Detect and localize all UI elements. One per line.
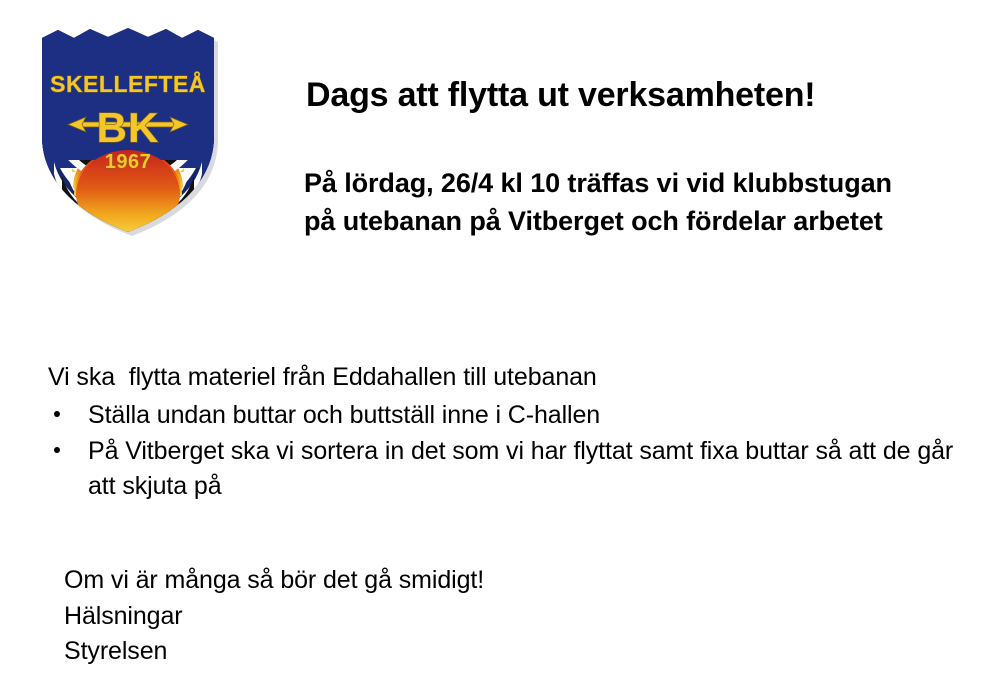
crest-initials: BK (97, 104, 160, 151)
body-block: Vi ska flytta materiel från Eddahallen t… (48, 360, 968, 505)
subheading: På lördag, 26/4 kl 10 träffas vi vid klu… (304, 164, 892, 241)
bullet-icon (54, 411, 60, 417)
subheading-line-1: På lördag, 26/4 kl 10 träffas vi vid klu… (304, 164, 892, 202)
list-item-text: På Vitberget ska vi sortera in det som v… (88, 437, 953, 500)
crest-club-name: SKELLEFTEÅ (50, 70, 206, 97)
subheading-line-2: på utebanan på Vitberget och fördelar ar… (304, 202, 892, 240)
crest-year: 1967 (105, 151, 152, 173)
list-item: Ställa undan buttar och buttställ inne i… (48, 398, 968, 433)
body-intro: Vi ska flytta materiel från Eddahallen t… (48, 360, 968, 395)
closing-signature: Styrelsen (64, 634, 484, 670)
closing-line-2: Hälsningar (64, 599, 484, 635)
task-list: Ställa undan buttar och buttställ inne i… (48, 398, 968, 504)
bullet-icon (54, 447, 60, 453)
list-item: På Vitberget ska vi sortera in det som v… (48, 434, 968, 503)
club-logo: SKELLEFTEÅ BK 1967 (28, 18, 228, 240)
closing-line-1: Om vi är många så bör det gå smidigt! (64, 563, 484, 599)
headline: Dags att flytta ut verksamheten! (306, 76, 815, 115)
closing-block: Om vi är många så bör det gå smidigt! Hä… (64, 563, 484, 670)
list-item-text: Ställa undan buttar och buttställ inne i… (88, 401, 600, 429)
